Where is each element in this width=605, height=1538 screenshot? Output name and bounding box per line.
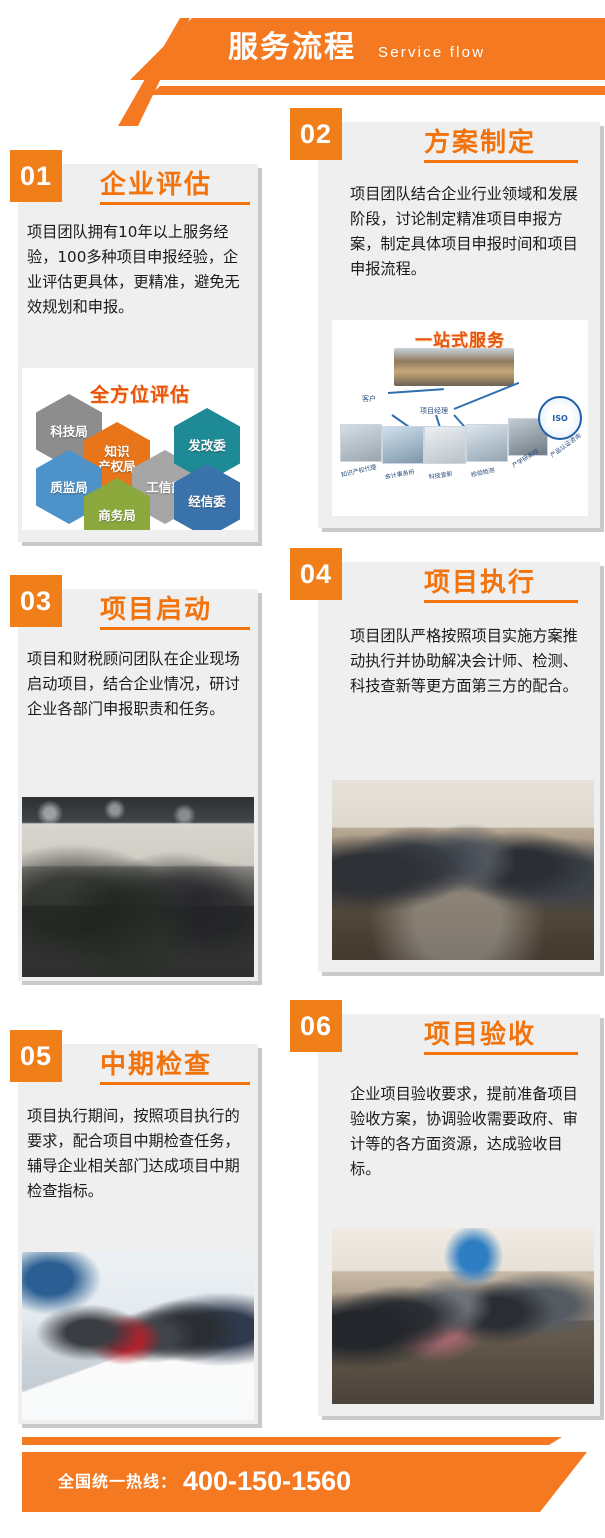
- header-banner-shape: [130, 18, 605, 80]
- card-number-badge: 05: [10, 1030, 62, 1082]
- hexagon-diagram: 全方位评估 科技局 知识 产权局 质监局 工信部 商务局 发改委 经信委: [22, 368, 254, 530]
- hexagon-diagram-caption: 全方位评估: [90, 380, 190, 407]
- thumb-inspection: [466, 424, 508, 462]
- caption-inspection: 检验检测: [470, 465, 495, 479]
- card-title: 项目执行: [424, 562, 536, 599]
- hexagon-label: 科技局: [50, 424, 88, 439]
- card-photo-meeting: [332, 780, 594, 960]
- card-photo-conference: [332, 1228, 594, 1404]
- thumb-ip-agency: [340, 424, 382, 462]
- card-number-badge: 02: [290, 108, 342, 160]
- card-photo-lobby: [22, 1252, 254, 1420]
- infographic-page: 服务流程 Service flow 全方位评估 科技局 知识 产权局 质监局 工…: [0, 0, 605, 1538]
- hexagon-label: 商务局: [98, 508, 136, 523]
- hexagon-label: 质监局: [50, 480, 88, 495]
- card-title: 企业评估: [100, 164, 212, 201]
- title-underline: [424, 600, 578, 603]
- thumb-tech-search: [424, 426, 466, 464]
- arrow-to-customer: [388, 388, 444, 394]
- photo-content: [332, 1228, 594, 1404]
- hexagon-label: 知识 产权局: [98, 444, 136, 474]
- card-title: 中期检查: [100, 1044, 212, 1081]
- hexagon-label: 经信委: [188, 494, 226, 509]
- footer-accent-stripe: [22, 1437, 562, 1445]
- card-body-text: 项目和财税顾问团队在企业现场启动项目，结合企业情况，研讨企业各部门申报职责和任务…: [27, 647, 243, 722]
- photo-content: [22, 797, 254, 977]
- hotline-number[interactable]: 400-150-1560: [183, 1462, 351, 1500]
- node-label-customer: 客户: [362, 394, 376, 404]
- card-number-badge: 04: [290, 548, 342, 600]
- caption-ip-agency: 知识产权代理: [340, 462, 377, 479]
- card-number-badge: 01: [10, 150, 62, 202]
- meeting-thumbnail: [394, 348, 514, 386]
- card-body-text: 项目团队严格按照项目实施方案推动执行并协助解决会计师、检测、科技查新等更方面第三…: [350, 624, 582, 699]
- card-body-text: 企业项目验收要求，提前准备项目验收方案，协调验收需要政府、审计等的各方面资源，达…: [350, 1082, 582, 1182]
- photo-content: [332, 780, 594, 960]
- card-body-text: 项目执行期间，按照项目执行的要求，配合项目中期检查任务，辅导企业相关部门达成项目…: [27, 1104, 243, 1204]
- card-number-badge: 03: [10, 575, 62, 627]
- card-body-text: 项目团队结合企业行业领域和发展阶段，讨论制定精准项目申报方案，制定具体项目申报时…: [350, 182, 582, 282]
- card-title: 项目启动: [100, 589, 212, 626]
- hexagon-label: 发改委: [188, 438, 226, 453]
- header-accent-stripe: [150, 86, 605, 95]
- one-stop-service-diagram: 一站式服务 客户 项目经理 ISO 知识产权代理 会计事务所 科技查新 检验检测…: [332, 320, 588, 516]
- card-photo-boardroom: [22, 797, 254, 977]
- card-body-text: 项目团队拥有10年以上服务经验，100多种项目申报经验，企业评估更具体，更精准，…: [27, 220, 243, 320]
- caption-tech-search: 科技查新: [428, 469, 453, 481]
- page-header: 服务流程 Service flow: [0, 0, 605, 110]
- card-title: 项目验收: [424, 1014, 536, 1051]
- title-underline: [100, 1082, 250, 1085]
- photo-content: [22, 1252, 254, 1420]
- card-number-badge: 06: [290, 1000, 342, 1052]
- title-underline: [424, 160, 578, 163]
- hotline-label: 全国统一热线：: [58, 1468, 177, 1496]
- page-subtitle: Service flow: [378, 42, 485, 64]
- title-underline: [100, 202, 250, 205]
- caption-accounting: 会计事务所: [384, 467, 415, 481]
- title-underline: [100, 627, 250, 630]
- card-title: 方案制定: [424, 122, 536, 159]
- thumb-accounting: [382, 426, 424, 464]
- arrow-to-right: [454, 382, 520, 410]
- title-underline: [424, 1052, 578, 1055]
- page-title: 服务流程: [228, 28, 356, 68]
